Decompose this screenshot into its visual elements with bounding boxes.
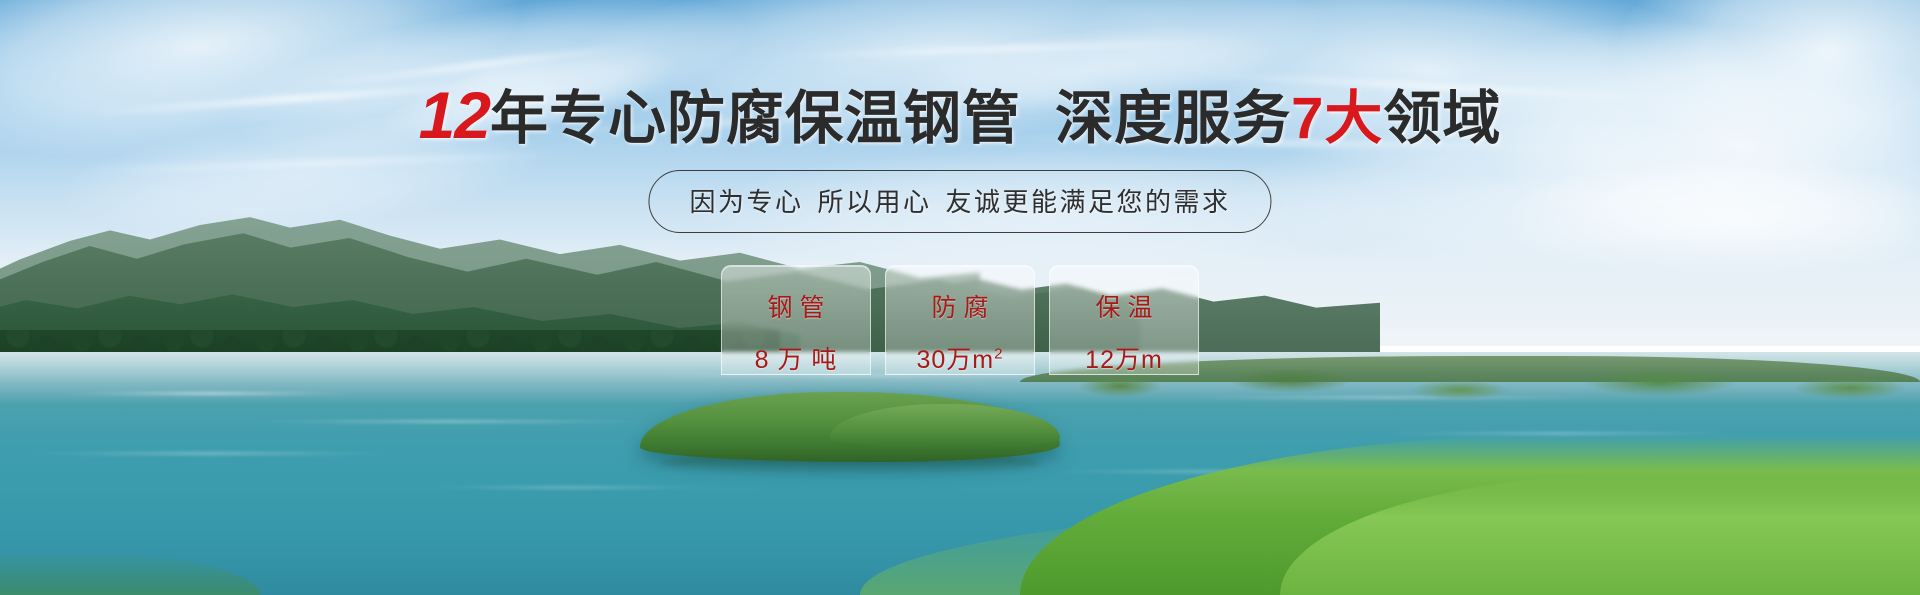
stat-card-label: 防腐 (924, 288, 995, 324)
stat-card-value-text: 30万m (917, 346, 995, 374)
stat-card-steel-pipe[interactable]: 钢管 8 万 吨 (721, 265, 871, 375)
banner-content: 12年专心防腐保温钢管深度服务7大领域 因为专心所以用心友诚更能满足您的需求 钢… (0, 0, 1920, 595)
headline-years-number: 12 (419, 78, 490, 152)
subtitle-pill: 因为专心所以用心友诚更能满足您的需求 (648, 170, 1271, 233)
headline-highlight: 7大 (1291, 86, 1383, 151)
stat-card-value: 30万m2 (917, 340, 1004, 376)
headline: 12年专心防腐保温钢管深度服务7大领域 (0, 82, 1920, 148)
headline-part-two: 深度服务 (1055, 86, 1291, 151)
subtitle-segment-three: 友诚更能满足您的需求 (946, 187, 1231, 217)
stat-card-anticorrosion[interactable]: 防腐 30万m2 (885, 265, 1035, 375)
subtitle-segment-two: 所以用心 (817, 187, 931, 217)
stat-card-value-superscript: 2 (994, 346, 1003, 363)
stat-card-value: 8 万 吨 (755, 340, 838, 376)
headline-part-three: 领域 (1383, 86, 1501, 151)
hero-banner: 12年专心防腐保温钢管深度服务7大领域 因为专心所以用心友诚更能满足您的需求 钢… (0, 0, 1920, 595)
subtitle-segment-one: 因为专心 (689, 187, 803, 217)
headline-part-one: 年专心防腐保温钢管 (490, 86, 1021, 151)
stat-card-value-text: 8 万 吨 (755, 346, 838, 374)
stat-card-insulation[interactable]: 保温 12万m (1049, 265, 1199, 375)
stat-card-label: 保温 (1088, 288, 1159, 324)
stat-card-value-text: 12万m (1085, 346, 1163, 374)
stat-card-label: 钢管 (760, 288, 831, 324)
stat-card-group: 钢管 8 万 吨 防腐 30万m2 保温 12万m (721, 265, 1199, 375)
stat-card-value: 12万m (1085, 340, 1163, 376)
